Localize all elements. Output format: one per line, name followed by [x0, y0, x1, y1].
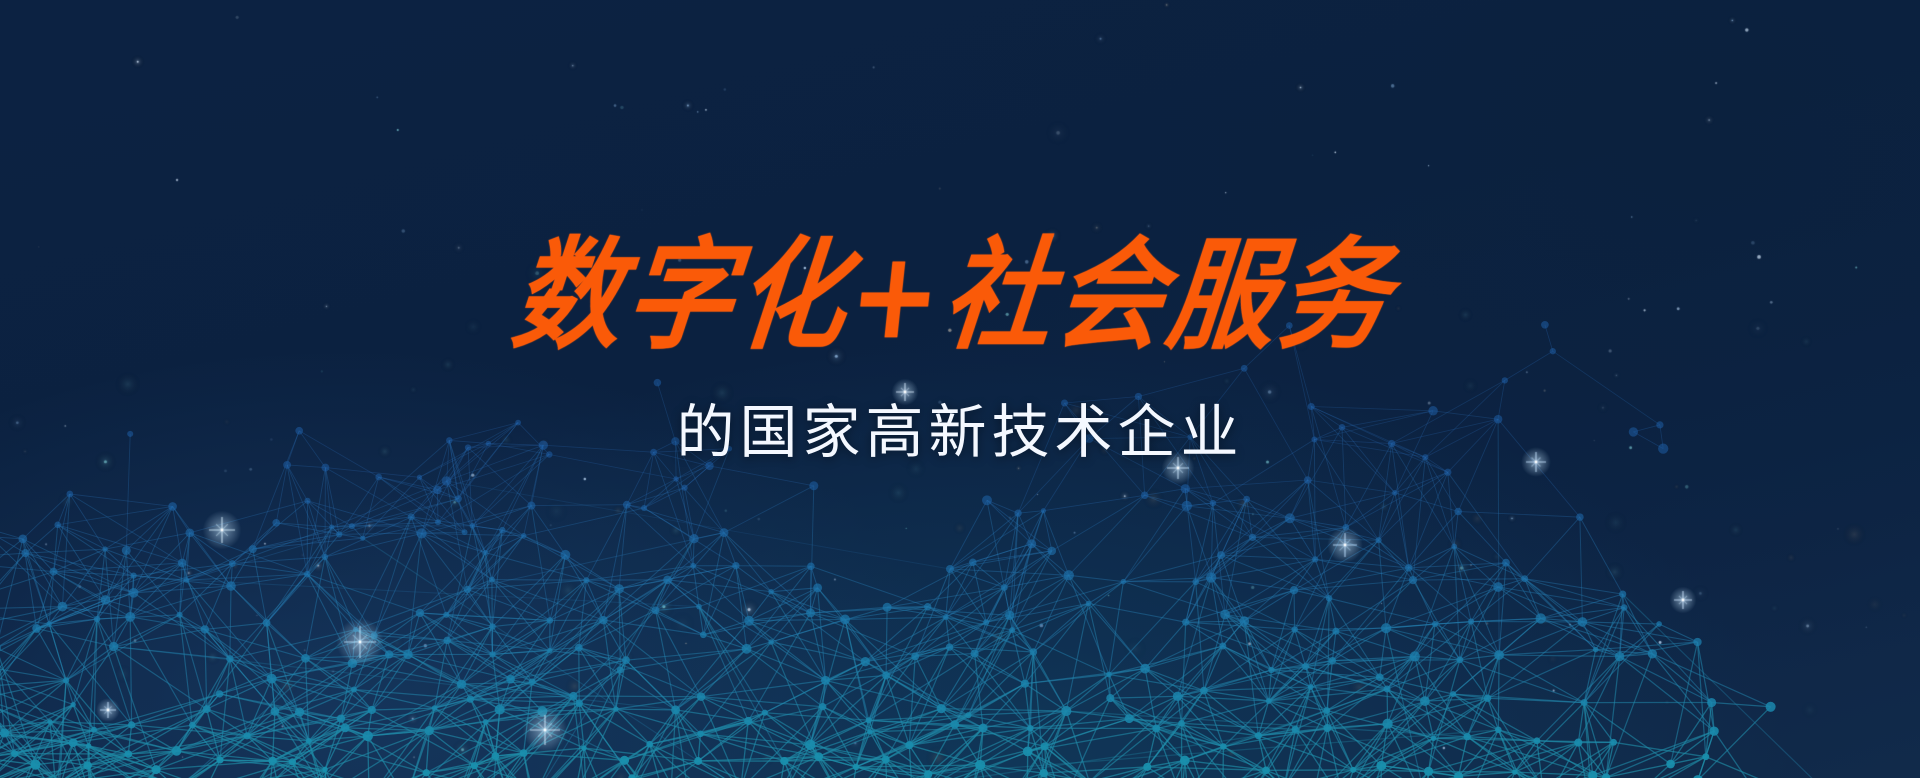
hero-subtitle: 的国家高新技术企业 [0, 398, 1920, 468]
network-mesh-layer [0, 0, 1920, 778]
hero-banner: 数字化+社会服务 的国家高新技术企业 [0, 0, 1920, 778]
hero-headline: 数字化+社会服务 [0, 232, 1920, 363]
